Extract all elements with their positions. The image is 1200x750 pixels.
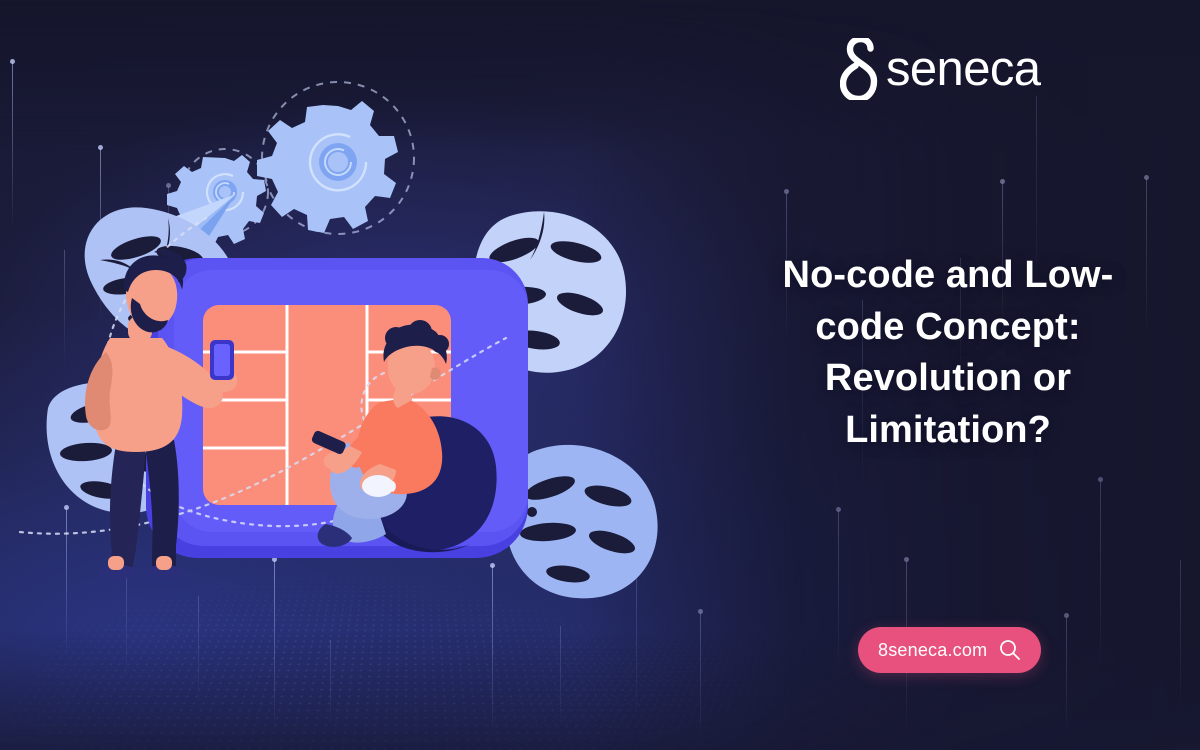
light-streak: [700, 612, 701, 742]
headline-line-2: code Concept:: [726, 302, 1170, 354]
headline-line-1: No-code and Low-: [726, 250, 1170, 302]
brand-logo[interactable]: seneca: [840, 38, 1040, 100]
no-code-low-code-illustration: [40, 100, 720, 620]
light-streak: [838, 510, 839, 670]
light-streak: [12, 62, 13, 232]
light-streak: [330, 640, 331, 730]
gear-large-icon: [257, 101, 398, 233]
light-streak: [1180, 560, 1181, 710]
page-title: No-code and Low- code Concept: Revolutio…: [726, 250, 1170, 457]
search-icon[interactable]: [999, 639, 1021, 661]
headline-line-4: Limitation?: [726, 405, 1170, 457]
infinity-eight-mark-icon: [840, 38, 884, 100]
light-streak: [560, 626, 561, 726]
website-badge[interactable]: 8seneca.com: [858, 627, 1041, 673]
website-badge-label: 8seneca.com: [878, 640, 987, 661]
light-streak: [1066, 616, 1067, 736]
light-streak: [1100, 480, 1101, 670]
logo-wordmark: seneca: [886, 45, 1040, 94]
headline-line-3: Revolution or: [726, 353, 1170, 405]
cup: [362, 475, 394, 497]
blog-banner: seneca No-code and Low- code Concept: Re…: [0, 0, 1200, 750]
